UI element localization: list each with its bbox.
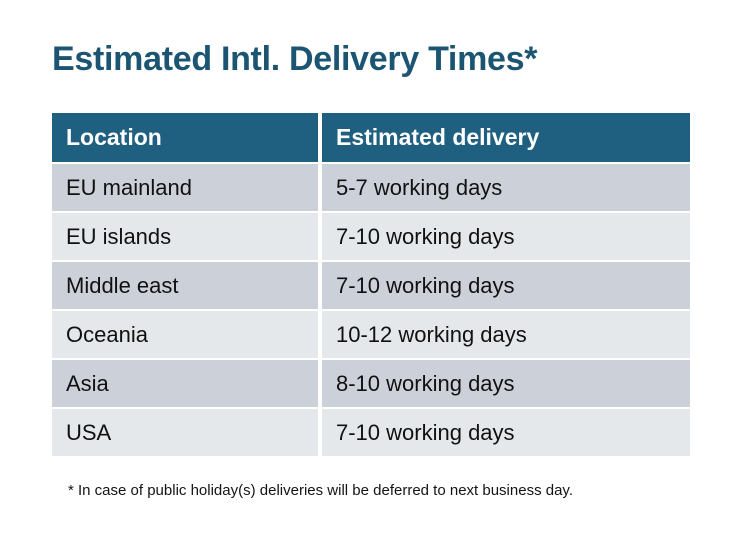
cell-location: Asia xyxy=(52,360,318,407)
estimated-delivery-times-table: Location Estimated delivery EU mainland … xyxy=(52,113,690,456)
table-row: Asia 8-10 working days xyxy=(52,360,690,407)
cell-estimated-delivery: 8-10 working days xyxy=(322,360,690,407)
cell-estimated-delivery: 5-7 working days xyxy=(322,164,690,211)
delivery-times-page: Estimated Intl. Delivery Times* Location… xyxy=(0,0,745,536)
cell-location: Oceania xyxy=(52,311,318,358)
cell-location: USA xyxy=(52,409,318,456)
page-title: Estimated Intl. Delivery Times* xyxy=(52,38,537,80)
column-header-estimated-delivery: Estimated delivery xyxy=(322,113,690,162)
cell-estimated-delivery: 7-10 working days xyxy=(322,409,690,456)
cell-estimated-delivery: 10-12 working days xyxy=(322,311,690,358)
footnote-public-holiday: * In case of public holiday(s) deliverie… xyxy=(68,481,573,501)
table-row: EU islands 7-10 working days xyxy=(52,213,690,260)
table-row: Oceania 10-12 working days xyxy=(52,311,690,358)
cell-location: EU mainland xyxy=(52,164,318,211)
table-row: USA 7-10 working days xyxy=(52,409,690,456)
table-row: Middle east 7-10 working days xyxy=(52,262,690,309)
column-header-location: Location xyxy=(52,113,318,162)
table-row: EU mainland 5-7 working days xyxy=(52,164,690,211)
cell-location: Middle east xyxy=(52,262,318,309)
cell-estimated-delivery: 7-10 working days xyxy=(322,262,690,309)
cell-estimated-delivery: 7-10 working days xyxy=(322,213,690,260)
cell-location: EU islands xyxy=(52,213,318,260)
table-header-row: Location Estimated delivery xyxy=(52,113,690,162)
